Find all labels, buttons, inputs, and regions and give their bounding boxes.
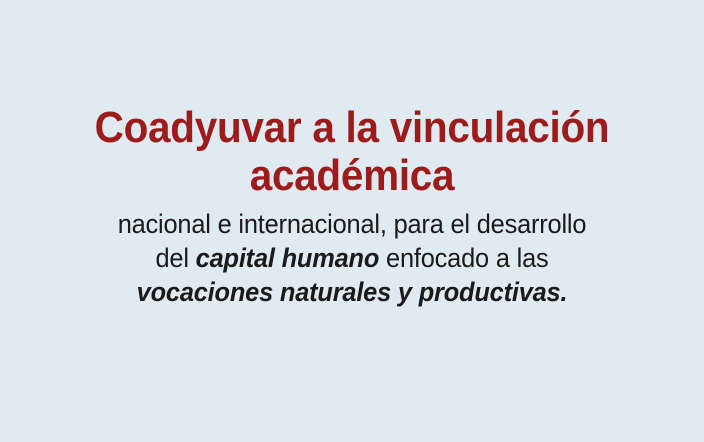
slide-canvas: Coadyuvar a la vinculación académica nac… — [0, 0, 704, 442]
body-line-2-emphasis: capital humano — [196, 243, 380, 273]
body-line-1: nacional e internacional, para el desarr… — [21, 207, 683, 241]
body-line-3: vocaciones naturales y productivas. — [21, 275, 683, 309]
headline-line-2: académica — [28, 152, 676, 200]
headline-line-1: Coadyuvar a la vinculación — [28, 104, 676, 152]
page-title: Coadyuvar a la vinculación académica — [28, 104, 676, 200]
text-block: Coadyuvar a la vinculación académica nac… — [0, 104, 704, 309]
body-paragraph: nacional e internacional, para el desarr… — [21, 207, 683, 309]
body-line-2: del capital humano enfocado a las — [21, 241, 683, 275]
body-line-2-suffix: enfocado a las — [379, 243, 548, 273]
body-line-2-prefix: del — [155, 243, 195, 273]
